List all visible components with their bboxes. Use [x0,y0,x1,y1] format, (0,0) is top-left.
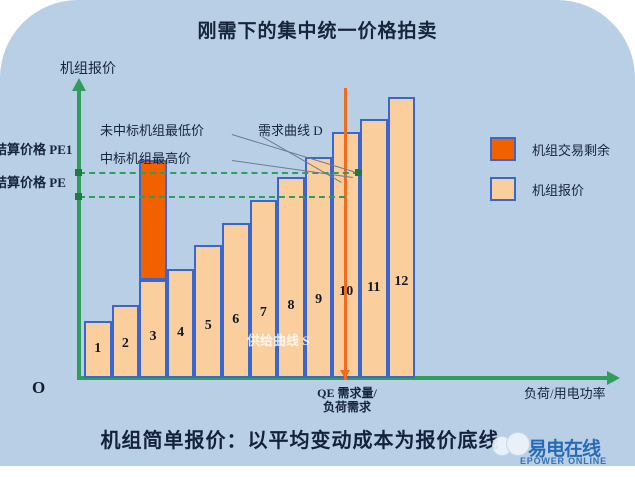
bar-label-7: 7 [250,305,278,321]
price-marker-pe1-axis [75,169,82,176]
demand-line-arrow-icon [340,370,350,379]
price-line-pe [79,196,345,198]
bar-12 [388,97,416,378]
bar-label-12: 12 [388,274,416,290]
legend-item-2: 机组报价 [490,173,635,213]
legend-label-2: 机组报价 [532,180,584,199]
bar-6 [222,223,250,378]
legend-item-1: 机组交易剩余 [490,133,635,173]
price-label-pe1: 结算价格 PE1 [0,139,72,158]
bar-label-6: 6 [222,312,250,328]
price-label-pe: 结算价格 PE [0,172,66,191]
legend-swatch-1 [490,137,516,161]
price-marker-pe-axis [75,193,82,200]
bar-11 [360,119,388,378]
bar-series: 123456789101112 [0,0,635,477]
bar-5 [194,245,222,378]
watermark: 易电在线 EPOWER ONLINE [492,430,632,474]
bar-label-9: 9 [305,292,333,308]
bar-label-1: 1 [84,341,112,357]
legend-label-1: 机组交易剩余 [532,140,610,159]
price-marker-pe1-end [355,169,362,176]
legend-swatch-2 [490,177,516,201]
bar-label-11: 11 [360,280,388,296]
demand-quantity-line [344,88,347,380]
bar-label-8: 8 [277,298,305,314]
bar-4 [167,269,195,378]
annotation-supply-curve: 供给曲线 S [247,330,309,349]
watermark-en-text: EPOWER ONLINE [520,456,607,466]
surplus-block [139,160,167,280]
legend: 机组交易剩余机组报价 [490,133,635,213]
bar-label-3: 3 [139,329,167,345]
bar-7 [250,200,278,378]
bar-label-5: 5 [194,318,222,334]
bar-label-2: 2 [112,336,140,352]
annotation-highest-won-price: 中标机组最高价 [100,148,191,167]
annotation-lowest-unwon-price: 未中标机组最低价 [100,120,204,139]
annotation-demand-curve: 需求曲线 D [258,120,323,139]
bar-label-4: 4 [167,325,195,341]
watermark-ball-2 [506,432,530,456]
slide-canvas: 刚需下的集中统一价格拍卖 机组报价 O 负荷/用电功率 QE 需求量/ 负荷需求… [0,0,635,477]
